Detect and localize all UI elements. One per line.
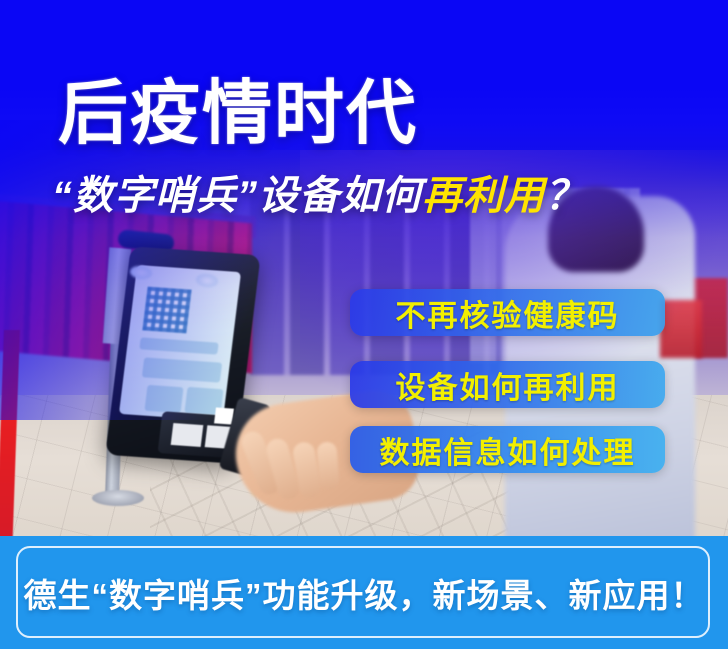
poster-canvas: 后疫情时代 “数字哨兵”设备如何再利用？ 不再核验健康码 设备如何再利用 数据信… bbox=[0, 0, 728, 649]
banner-text: 德生“数字哨兵”功能升级，新场景、新应用！ bbox=[0, 536, 728, 649]
subtitle-tail: ？ bbox=[545, 174, 586, 218]
topic-pill-3[interactable]: 数据信息如何处理 bbox=[350, 426, 665, 473]
page-title: 后疫情时代 bbox=[58, 78, 418, 148]
photo-finger-4 bbox=[316, 441, 339, 490]
subtitle-highlight: 再利用 bbox=[422, 174, 545, 218]
topic-pill-3-label: 数据信息如何处理 bbox=[380, 428, 636, 472]
topic-pill-1[interactable]: 不再核验健康码 bbox=[350, 289, 665, 336]
kiosk-label-left bbox=[171, 423, 204, 447]
kiosk-screen-row-3 bbox=[144, 385, 183, 413]
kiosk-qr-code bbox=[142, 287, 191, 334]
photo-person-badge bbox=[660, 300, 702, 358]
subtitle-main: “数字哨兵”设备如何 bbox=[52, 174, 422, 218]
bottom-banner: 德生“数字哨兵”功能升级，新场景、新应用！ bbox=[0, 536, 728, 649]
topic-pill-1-label: 不再核验健康码 bbox=[396, 291, 620, 335]
topic-pill-2[interactable]: 设备如何再利用 bbox=[350, 361, 665, 408]
kiosk-base bbox=[92, 490, 144, 506]
topic-pill-2-label: 设备如何再利用 bbox=[396, 363, 620, 407]
page-subtitle: “数字哨兵”设备如何再利用？ bbox=[52, 176, 586, 216]
photo-glass-partition bbox=[250, 195, 500, 375]
